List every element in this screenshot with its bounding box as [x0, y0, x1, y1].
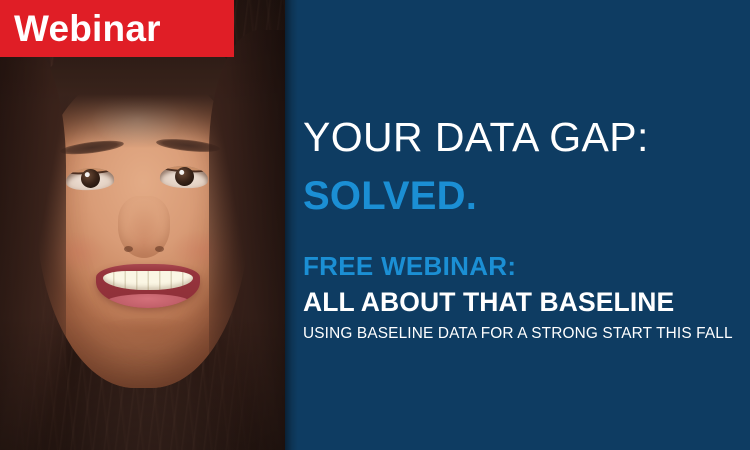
panel-left-shadow — [285, 0, 298, 450]
subhead-eyebrow: FREE WEBINAR: — [303, 253, 516, 279]
photo-vignette — [0, 0, 285, 450]
headline-line-2: SOLVED. — [303, 176, 477, 216]
promo-copy-block: YOUR DATA GAP: SOLVED. FREE WEBINAR: ALL… — [303, 0, 750, 450]
webinar-ribbon-label: Webinar — [0, 10, 161, 47]
subhead-title: ALL ABOUT THAT BASELINE — [303, 289, 674, 316]
headline-line-1: YOUR DATA GAP: — [303, 117, 649, 158]
webinar-promo-banner: YOUR DATA GAP: SOLVED. FREE WEBINAR: ALL… — [0, 0, 750, 450]
webinar-ribbon: Webinar — [0, 0, 234, 57]
girl-portrait-photo — [0, 0, 285, 450]
subhead-tagline: USING BASELINE DATA FOR A STRONG START T… — [303, 326, 733, 341]
